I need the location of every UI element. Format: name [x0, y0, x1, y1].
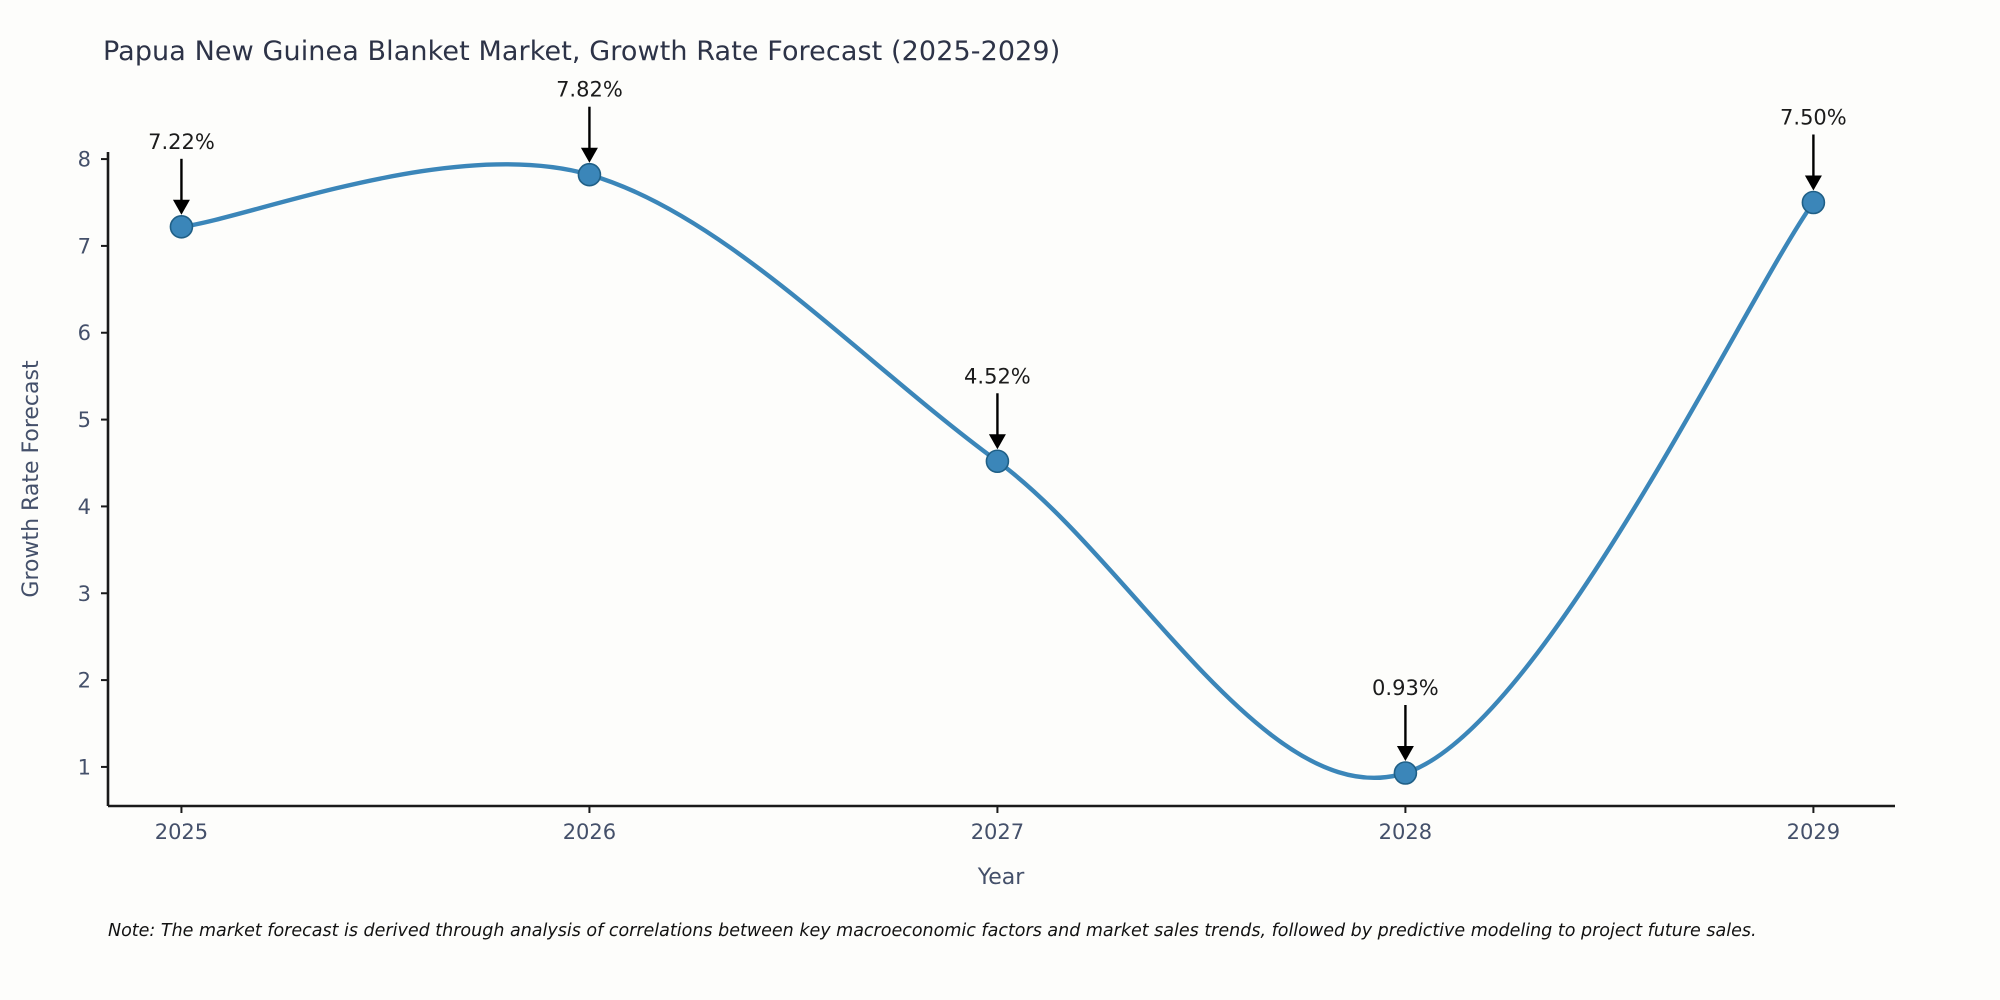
data-point-label: 4.52% [964, 364, 1031, 388]
y-tick-label: 1 [78, 755, 91, 779]
chart-figure: Papua New Guinea Blanket Market, Growth … [0, 0, 2000, 1000]
data-point-marker[interactable] [1802, 191, 1824, 213]
data-point-marker[interactable] [986, 450, 1008, 472]
y-axis-ticks: 12345678 [78, 148, 108, 780]
y-tick-label: 7 [78, 234, 91, 258]
x-tick-label: 2027 [971, 820, 1024, 844]
x-tick-label: 2025 [155, 820, 208, 844]
data-point-markers [170, 164, 1824, 784]
x-axis-ticks: 20252026202720282029 [155, 806, 1840, 844]
annotation-arrow-head [173, 200, 190, 215]
annotation-arrow-head [1805, 175, 1822, 190]
data-point-marker[interactable] [578, 164, 600, 186]
annotation-arrow-head [989, 434, 1006, 449]
annotation-arrow-head [581, 148, 598, 163]
data-point-marker[interactable] [1394, 762, 1416, 784]
y-tick-label: 6 [78, 321, 91, 345]
data-point-label: 7.82% [556, 78, 623, 102]
x-tick-label: 2028 [1379, 820, 1432, 844]
y-tick-label: 4 [78, 495, 91, 519]
line-chart-plot: 12345678 20252026202720282029 7.22%7.82%… [0, 0, 2000, 1000]
data-point-label: 7.50% [1780, 105, 1847, 129]
x-axis-title: Year [977, 865, 1026, 890]
x-tick-label: 2029 [1787, 820, 1840, 844]
data-point-marker[interactable] [170, 216, 192, 238]
data-point-label: 7.22% [148, 130, 215, 154]
y-tick-label: 5 [78, 408, 91, 432]
annotation-arrow-head [1397, 746, 1414, 761]
y-tick-label: 2 [78, 669, 91, 693]
data-point-label: 0.93% [1372, 676, 1439, 700]
y-tick-label: 8 [78, 148, 91, 172]
y-axis-title: Growth Rate Forecast [19, 360, 44, 598]
y-tick-label: 3 [78, 582, 91, 606]
data-point-annotations: 7.22%7.82%4.52%0.93%7.50% [148, 78, 1847, 761]
x-tick-label: 2026 [563, 820, 616, 844]
footnote-text: Note: The market forecast is derived thr… [108, 921, 1757, 941]
